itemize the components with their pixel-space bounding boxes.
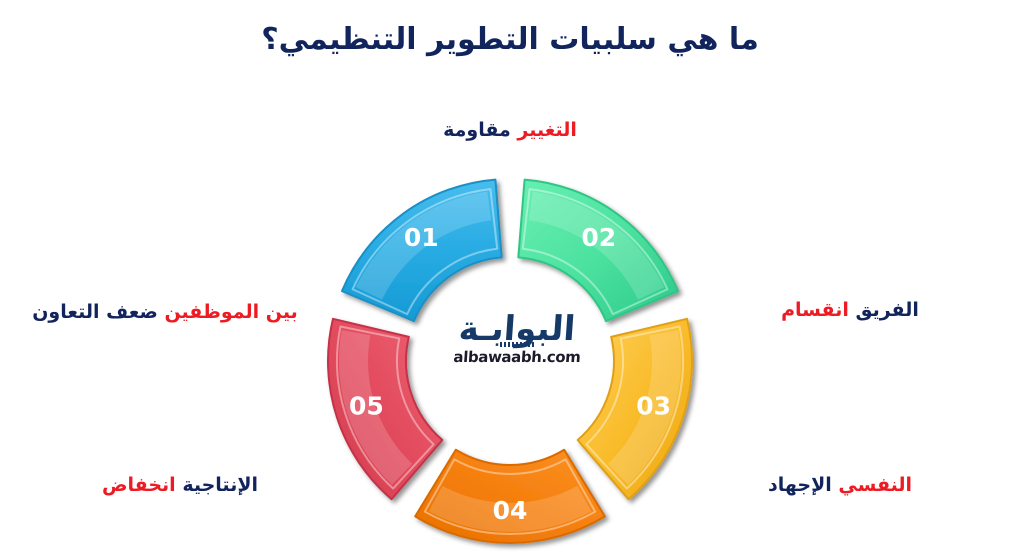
page-title: ما هي سلبيات التطوير التنظيمي؟: [0, 22, 1020, 57]
segment-label-04: الإنتاجية انخفاض: [30, 474, 330, 498]
segment-label-02-red: انقسام: [781, 299, 849, 321]
segment-number-04: 04: [493, 496, 528, 525]
brand-logo-latin: albawaabh.com: [436, 348, 597, 366]
segment-label-02: الفريق انقسام: [700, 299, 1000, 323]
infographic-canvas: ما هي سلبيات التطوير التنظيمي؟: [0, 0, 1020, 554]
segment-label-03-red: النفسي: [838, 474, 912, 496]
segment-label-01-blue: مقاومة: [443, 119, 511, 141]
segment-label-05: بين الموظفين ضعف التعاون: [0, 301, 330, 325]
segment-number-03: 03: [636, 392, 671, 421]
segment-label-01: التغيير مقاومة: [0, 119, 1020, 143]
brand-logo: البوابـة albawaabh.com: [437, 312, 597, 390]
segment-label-04-blue: الإنتاجية: [182, 474, 258, 496]
segment-label-05-red: بين الموظفين: [164, 301, 297, 323]
segment-number-01: 01: [404, 223, 439, 252]
segment-label-05-blue: ضعف التعاون: [32, 301, 158, 323]
segment-label-02-blue: الفريق: [855, 299, 918, 321]
segment-label-03: النفسي الإجهاد: [690, 474, 990, 498]
segment-label-04-red: انخفاض: [102, 474, 176, 496]
brand-logo-arabic: البوابـة: [436, 312, 598, 346]
segment-label-03-blue: الإجهاد: [768, 474, 832, 496]
donut-segment-05[interactable]: [328, 319, 442, 499]
segment-number-05: 05: [349, 392, 384, 421]
segment-number-02: 02: [581, 223, 616, 252]
segment-label-01-red: التغيير: [517, 119, 576, 141]
